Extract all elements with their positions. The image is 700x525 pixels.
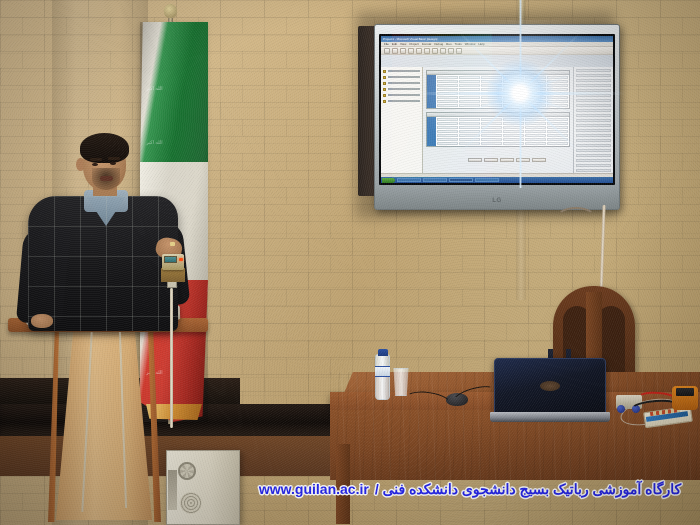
- start-button[interactable]: [382, 178, 395, 183]
- menu-window[interactable]: Window: [465, 42, 476, 46]
- menu-run[interactable]: Run: [446, 42, 452, 46]
- water-bottle: [375, 354, 390, 400]
- tree-item: [383, 87, 420, 91]
- tab-sheet5[interactable]: [532, 158, 546, 162]
- project-tree-panel[interactable]: [381, 67, 423, 174]
- menu-edit[interactable]: Edit: [392, 42, 397, 46]
- device-cable: [170, 288, 173, 428]
- folder-icon: [383, 70, 386, 73]
- presenter-eyebrow-left: [90, 158, 102, 161]
- tree-item: [383, 81, 420, 85]
- caption-url: www.guilan.ac.ir: [259, 481, 369, 497]
- save-icon[interactable]: [400, 48, 406, 54]
- pc-vent-grille: [180, 492, 202, 514]
- tree-item: [383, 93, 420, 97]
- pc-fan-icon: [178, 462, 196, 480]
- row-selector-column[interactable]: [427, 117, 436, 146]
- tab-sheet1[interactable]: [468, 158, 482, 162]
- data-grid-top[interactable]: [426, 70, 570, 109]
- open-icon[interactable]: [392, 48, 398, 54]
- pc-rear-ports: [168, 470, 177, 510]
- presenter-eye-left: [92, 163, 98, 166]
- taskbar-item[interactable]: [423, 178, 447, 182]
- file-icon: [383, 94, 386, 97]
- device-led-indicator: [179, 258, 183, 261]
- file-icon: [383, 88, 386, 91]
- paste-icon[interactable]: [424, 48, 430, 54]
- menu-debug[interactable]: Debug: [434, 42, 443, 46]
- tv-bezel-inner: Project1 - Microsoft Visual Basic [desig…: [379, 34, 615, 185]
- new-icon[interactable]: [384, 48, 390, 54]
- menu-view[interactable]: View: [400, 42, 406, 46]
- properties-panel[interactable]: [573, 67, 613, 174]
- presenter-hair: [80, 133, 129, 163]
- tree-item: [383, 75, 420, 79]
- menu-project[interactable]: Project: [409, 42, 418, 46]
- data-grid-area[interactable]: [423, 67, 573, 174]
- tree-item: [383, 69, 420, 73]
- run-icon[interactable]: [432, 48, 438, 54]
- bottle-cap: [378, 349, 388, 356]
- caption-overlay: کارگاه آموزشی رباتیک بسیج دانشجوی دانشکد…: [240, 476, 700, 502]
- build-icon[interactable]: [448, 48, 454, 54]
- menu-format[interactable]: Format: [422, 42, 432, 46]
- menu-file[interactable]: File: [384, 42, 389, 46]
- robot-wheel-left: [617, 405, 625, 413]
- bottle-label: [375, 366, 390, 377]
- laptop-base: [490, 412, 610, 422]
- presenter-sweater-pattern: [28, 196, 178, 331]
- caption-persian: کارگاه آموزشی رباتیک بسیج دانشجوی دانشکد…: [375, 481, 681, 498]
- photo-scene: Project1 - Microsoft Visual Basic [desig…: [0, 0, 700, 525]
- tv-screen: Project1 - Microsoft Visual Basic [desig…: [381, 36, 613, 183]
- app-toolbar: [381, 47, 613, 55]
- app-title: Project1 - Microsoft Visual Basic [desig…: [383, 37, 437, 41]
- app-workspace: [381, 67, 613, 174]
- laptop-brand-logo: [540, 381, 560, 391]
- stop-icon[interactable]: [440, 48, 446, 54]
- cut-icon[interactable]: [408, 48, 414, 54]
- file-icon: [383, 100, 386, 103]
- folder-icon: [383, 76, 386, 79]
- presenter-left-hand: [31, 314, 53, 328]
- tab-sheet3[interactable]: [500, 158, 514, 162]
- grid-cells: [436, 75, 569, 108]
- data-grid-bottom[interactable]: [426, 112, 570, 147]
- lg-television: Project1 - Microsoft Visual Basic [desig…: [374, 24, 620, 210]
- tv-cable-loop: [556, 207, 596, 229]
- multimeter-display: [676, 388, 694, 396]
- presenter-eye-right: [110, 162, 116, 165]
- folder-icon: [383, 82, 386, 85]
- flag-finial-icon: [164, 4, 177, 18]
- sheet-tab-bar[interactable]: [468, 158, 546, 162]
- lg-brand-logo: LG: [492, 198, 501, 204]
- presenter-ring: [170, 242, 175, 246]
- presenter-eyebrow-right: [108, 157, 120, 160]
- device-lcd-screen: [164, 256, 177, 263]
- menu-help[interactable]: Help: [478, 42, 484, 46]
- row-selector-column[interactable]: [427, 75, 436, 108]
- tab-sheet2[interactable]: [484, 158, 498, 162]
- grid-cells: [436, 117, 569, 146]
- windows-taskbar[interactable]: [381, 177, 613, 183]
- taskbar-item-active[interactable]: [449, 178, 473, 182]
- menu-tools[interactable]: Tools: [455, 42, 462, 46]
- presenter-mouth: [100, 176, 113, 181]
- desktop-pc-tower: [166, 450, 240, 525]
- settings-icon[interactable]: [456, 48, 462, 54]
- taskbar-item[interactable]: [397, 178, 421, 182]
- device-circuit-board: [161, 268, 185, 282]
- tab-sheet4[interactable]: [516, 158, 530, 162]
- taskbar-item[interactable]: [475, 178, 499, 182]
- tree-item: [383, 99, 420, 103]
- copy-icon[interactable]: [416, 48, 422, 54]
